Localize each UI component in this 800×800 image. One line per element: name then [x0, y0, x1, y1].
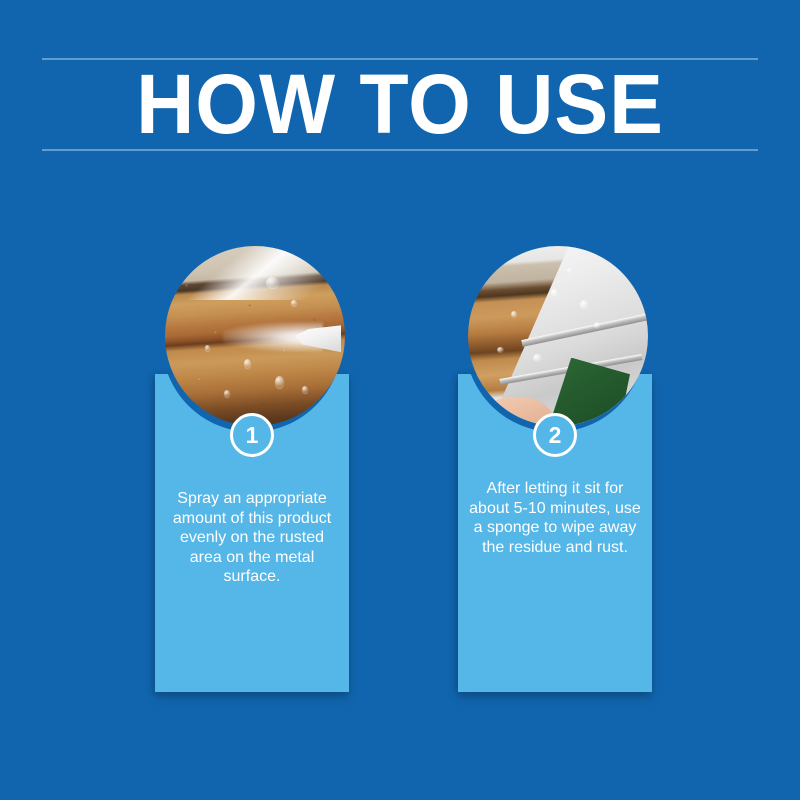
- water-droplet: [497, 347, 504, 353]
- rusted-metal-spray-photo: [165, 246, 345, 426]
- water-droplet: [275, 376, 284, 388]
- how-to-use-poster: HOW TO USE 1 Spray an appropriate amount: [0, 0, 800, 800]
- title-rule-bottom: [42, 149, 758, 151]
- sponge-wiping-rust-photo: [468, 246, 648, 426]
- water-droplet: [533, 354, 542, 362]
- photo-highlight: [165, 246, 345, 300]
- water-droplet: [551, 289, 558, 297]
- water-droplet: [567, 268, 572, 273]
- poster-header: HOW TO USE: [42, 58, 758, 152]
- step-number-badge-2: 2: [533, 413, 577, 457]
- water-droplet: [266, 277, 279, 288]
- water-droplet: [511, 311, 517, 318]
- water-droplet: [291, 300, 297, 306]
- step-photo-1: [165, 246, 345, 426]
- step-description-1: Spray an appropriate amount of this prod…: [165, 489, 339, 587]
- page-title: HOW TO USE: [56, 59, 743, 149]
- water-droplet: [594, 322, 600, 329]
- step-description-2: After letting it sit for about 5-10 minu…: [468, 479, 642, 557]
- step-photo-2: [468, 246, 648, 426]
- step-number-badge-1: 1: [230, 413, 274, 457]
- water-droplet: [580, 300, 588, 310]
- water-droplet: [205, 345, 210, 351]
